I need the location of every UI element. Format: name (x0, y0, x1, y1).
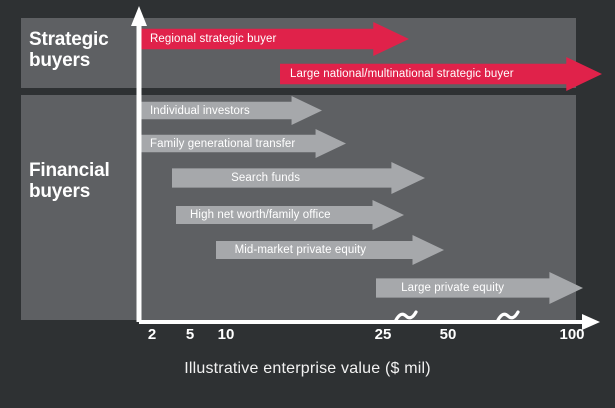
x-axis-title: Illustrative enterprise value ($ mil) (0, 360, 615, 378)
x-axis-tick-25: 25 (375, 326, 392, 343)
arrow-large-private-equity[interactable]: Large private equity (376, 272, 583, 304)
x-axis-tick-100: 100 (559, 326, 584, 343)
arrow-label: Family generational transfer (150, 129, 295, 158)
arrow-label: Large national/multinational strategic b… (290, 57, 514, 91)
category-label-strategic-buyers: Strategic buyers (29, 29, 129, 71)
arrow-family-generational-transfer[interactable]: Family generational transfer (140, 129, 346, 158)
arrow-label: High net worth/family office (176, 200, 345, 230)
arrow-label: Mid-market private equity (216, 235, 385, 265)
arrow-individual-investors[interactable]: Individual investors (140, 96, 322, 125)
arrow-label: Regional strategic buyer (150, 22, 276, 56)
category-label-financial-buyers: Financial buyers (29, 160, 129, 202)
arrow-label: Individual investors (150, 96, 250, 125)
arrow-regional-strategic-buyer[interactable]: Regional strategic buyer (140, 22, 409, 56)
x-axis-arrowhead (582, 314, 600, 330)
arrow-large-national-multinational-strategic-buyer[interactable]: Large national/multinational strategic b… (280, 57, 602, 91)
x-axis-tick-50: 50 (440, 326, 457, 343)
x-axis-tick-10: 10 (218, 326, 235, 343)
arrow-label: Large private equity (376, 272, 529, 304)
arrow-search-funds[interactable]: Search funds (172, 162, 425, 194)
x-axis-tick-5: 5 (186, 326, 194, 343)
chart-canvas: Strategic buyers Financial buyers Region… (0, 0, 615, 408)
arrow-high-net-worth-family-office[interactable]: High net worth/family office (176, 200, 404, 230)
x-axis-tick-2: 2 (148, 326, 156, 343)
arrow-mid-market-private-equity[interactable]: Mid-market private equity (216, 235, 444, 265)
arrow-label: Search funds (172, 162, 359, 194)
